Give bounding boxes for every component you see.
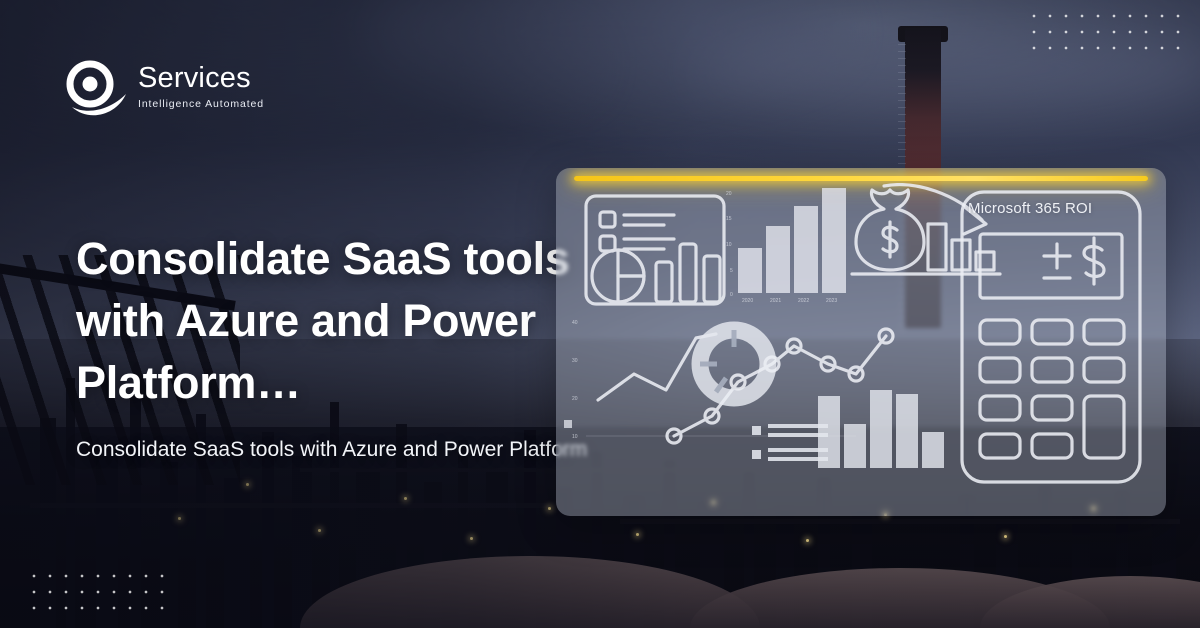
dot-grid-bottom-left <box>26 568 172 616</box>
list-icon <box>752 424 828 461</box>
svg-text:2021: 2021 <box>770 298 781 304</box>
svg-text:5: 5 <box>730 268 733 274</box>
svg-text:2022: 2022 <box>798 298 809 304</box>
svg-text:10: 10 <box>572 434 578 440</box>
calculator-icon <box>962 192 1140 482</box>
svg-text:10: 10 <box>726 242 732 248</box>
calculator-display-symbols <box>1044 238 1104 284</box>
svg-text:20: 20 <box>572 396 578 402</box>
money-bag-cost-reduction-icon <box>852 185 1000 274</box>
svg-text:2020: 2020 <box>742 298 753 304</box>
svg-text:0: 0 <box>730 292 733 298</box>
brand-name: Services <box>138 64 264 93</box>
illustration-panel: 20 15 10 5 0 2020 2021 2022 2023 <box>556 168 1166 516</box>
brand-logo[interactable]: Services Intelligence Automated <box>62 58 264 120</box>
dashboard-card-icon <box>586 196 724 304</box>
svg-text:15: 15 <box>726 216 732 222</box>
hero-copy: Consolidate SaaS tools with Azure and Po… <box>76 228 596 465</box>
growth-bar-chart: 20 15 10 5 0 2020 2021 2022 2023 <box>726 188 846 304</box>
svg-text:2023: 2023 <box>826 298 837 304</box>
mini-bar-chart <box>818 390 944 468</box>
brand-tagline: Intelligence Automated <box>138 98 264 110</box>
calculator-label: Microsoft 365 ROI <box>968 200 1092 217</box>
hero-subtitle: Consolidate SaaS tools with Azure and Po… <box>76 436 596 464</box>
brand-logo-text: Services Intelligence Automated <box>138 64 264 110</box>
hero-banner: Services Intelligence Automated Consolid… <box>0 0 1200 628</box>
analytics-illustration: 20 15 10 5 0 2020 2021 2022 2023 <box>556 168 1166 516</box>
svg-text:40: 40 <box>572 320 578 326</box>
svg-text:20: 20 <box>726 191 732 197</box>
circular-q-swoosh-logo-icon <box>62 58 128 120</box>
svg-text:30: 30 <box>572 358 578 364</box>
dot-grid-top-right <box>1026 8 1186 56</box>
page-title: Consolidate SaaS tools with Azure and Po… <box>76 228 596 414</box>
